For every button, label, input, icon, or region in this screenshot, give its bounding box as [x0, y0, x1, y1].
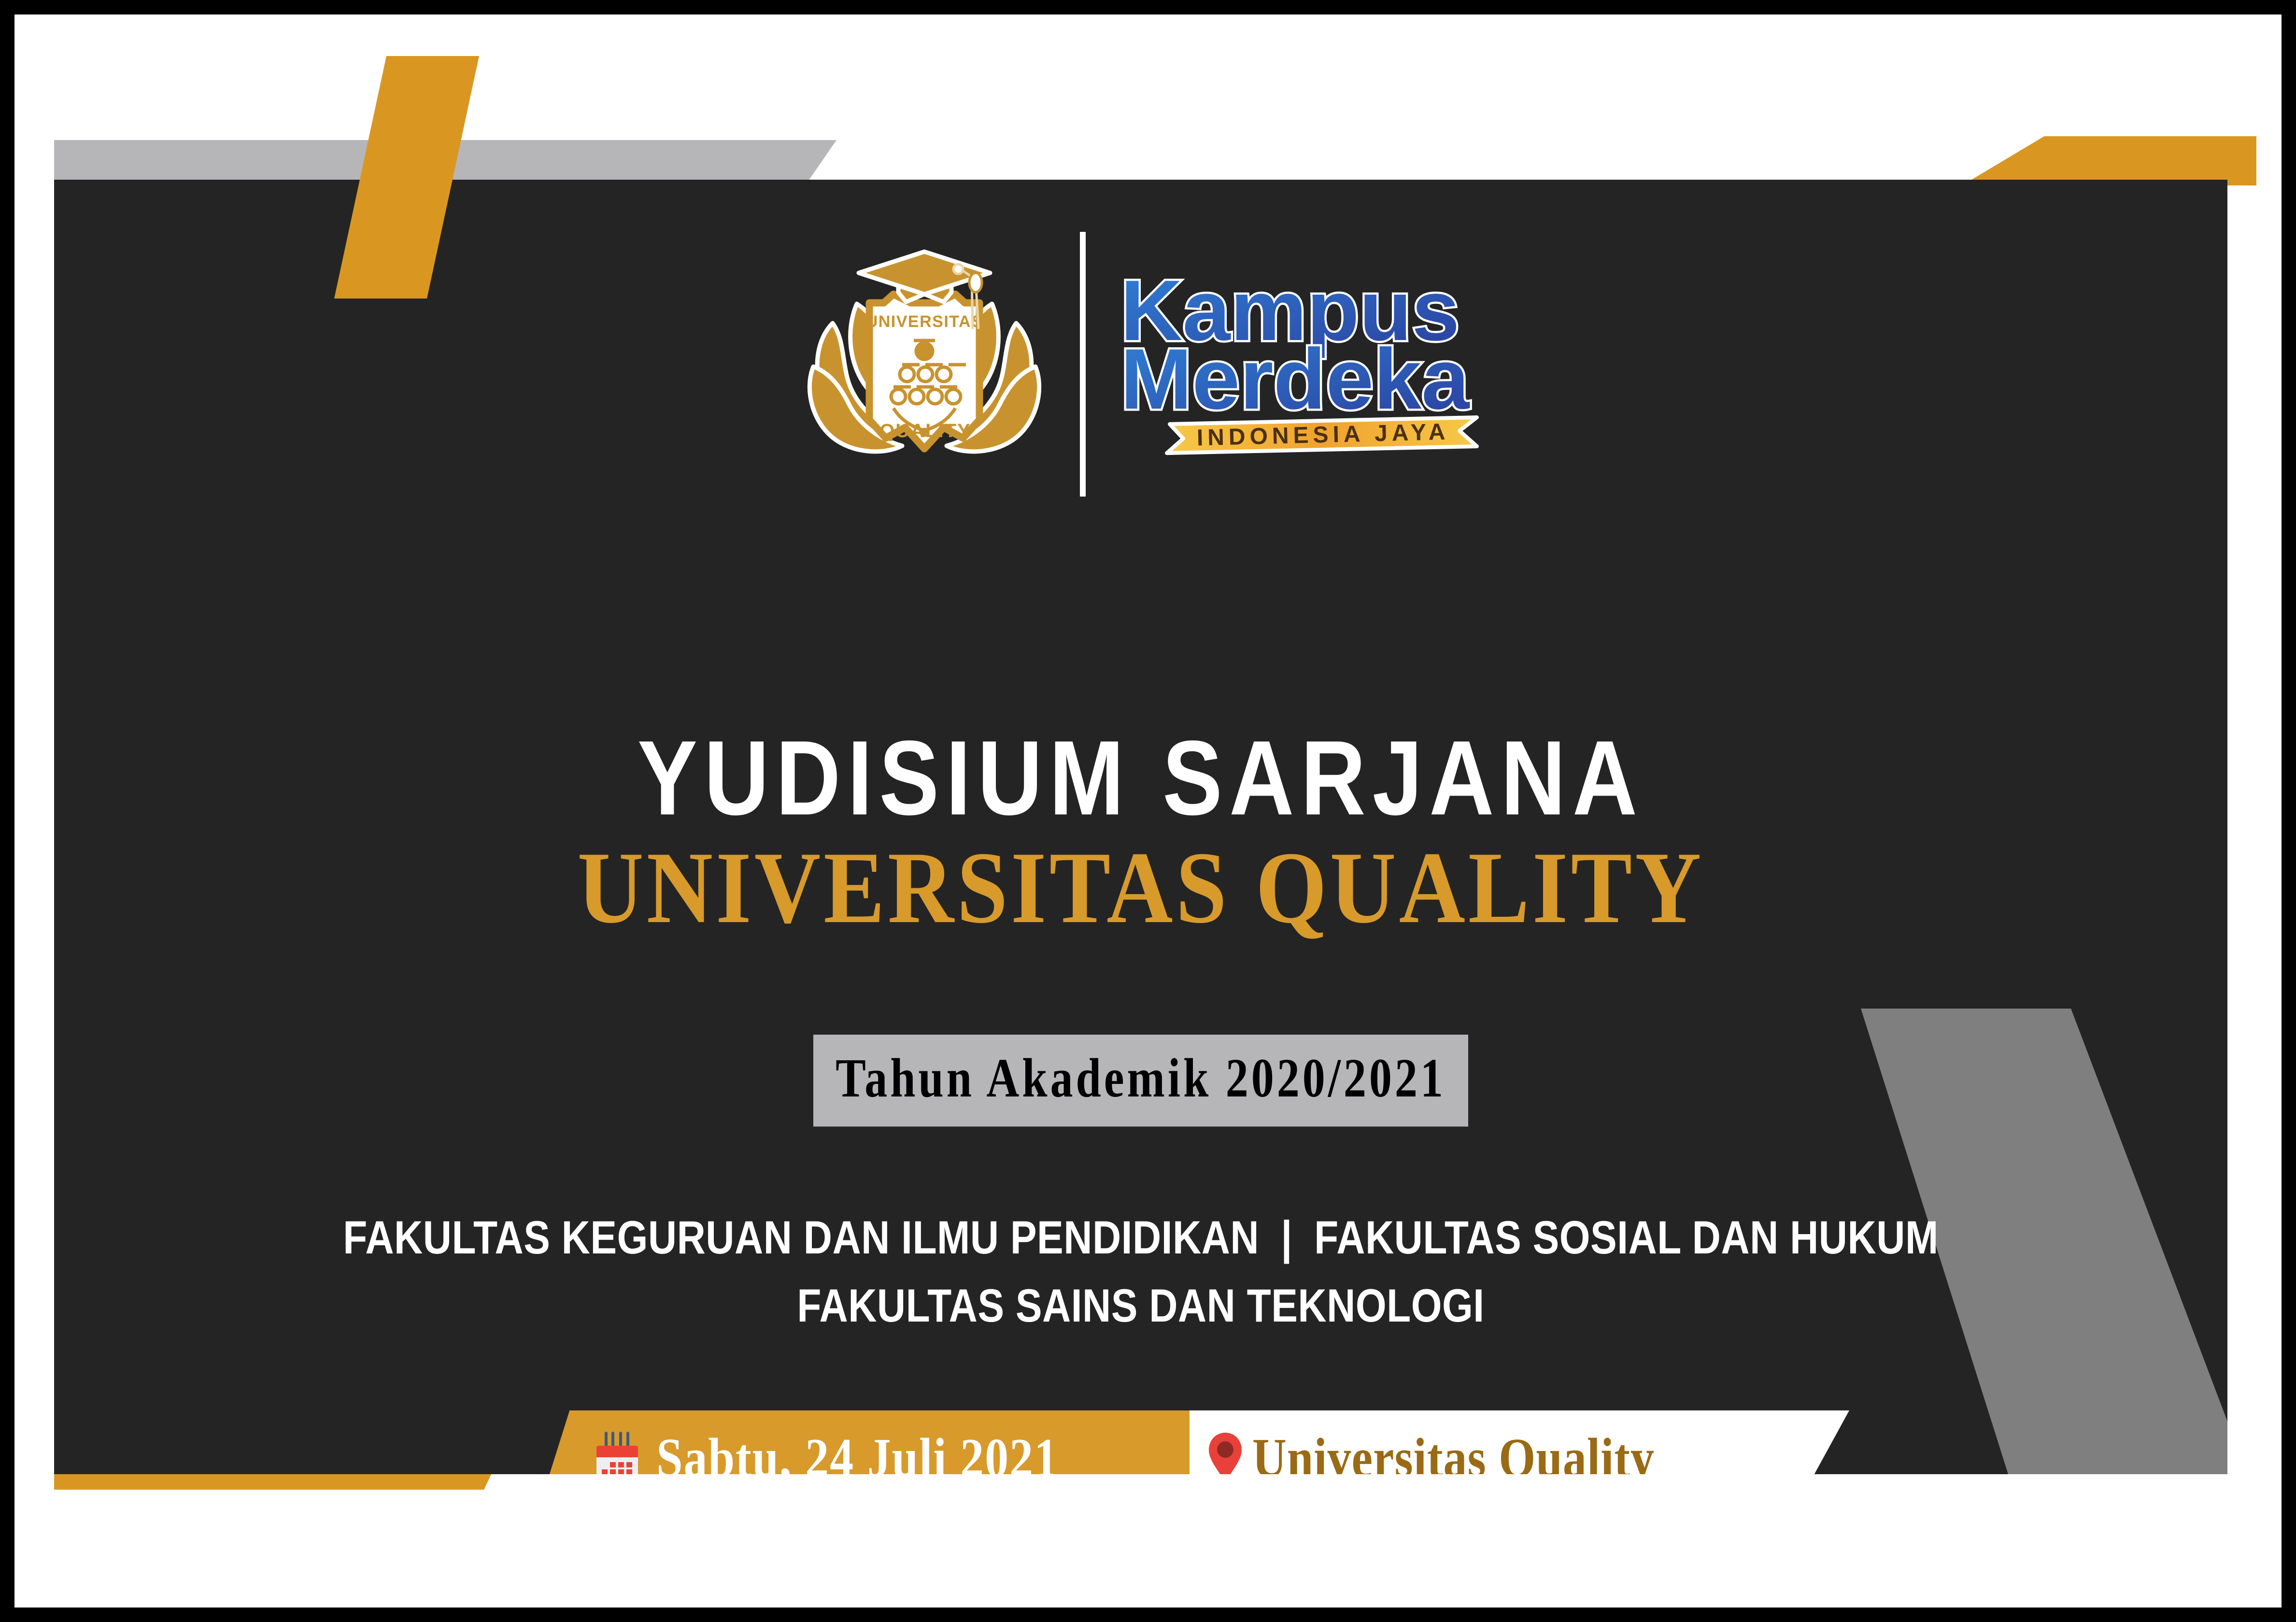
event-info-ribbon: Sabtu, 24 Juli 2021 Universitas Quality: [539, 1410, 1849, 1474]
map-pin-icon: [1207, 1432, 1244, 1474]
page-subtitle: UNIVERSITAS QUALITY: [54, 837, 2227, 939]
poster-canvas: UNIVERSITAS: [25, 25, 2271, 1597]
academic-year-badge: Tahun Akademik 2020/2021: [813, 1035, 1468, 1126]
calendar-icon: [596, 1431, 638, 1474]
poster-outer-frame: UNIVERSITAS: [0, 0, 2296, 1622]
faculty-list: FAKULTAS KEGURUAN DAN ILMU PENDIDIKAN | …: [54, 1204, 2227, 1340]
kampus-merdeka-logo: Kampus Merdeka INDONESIA JAYA: [1116, 258, 1483, 470]
km-line2: Merdeka: [1120, 331, 1470, 427]
faculty-sains-teknologi: FAKULTAS SAINS DAN TEKNOLOGI: [54, 1266, 2227, 1346]
logo-divider: [1080, 232, 1086, 497]
ribbon-date-section: Sabtu, 24 Juli 2021: [539, 1410, 1190, 1474]
page-title: YUDISIUM SARJANA: [54, 726, 2227, 831]
ribbon-place-section: Universitas Quality: [1190, 1410, 1849, 1474]
university-crest-logo: UNIVERSITAS: [799, 246, 1050, 483]
poster-inner-white-frame: UNIVERSITAS: [14, 14, 2282, 1608]
crest-top-text: UNIVERSITAS: [866, 313, 983, 331]
decor-gold-bar-top-right: [1962, 136, 2256, 185]
crest-bottom-text: QUALITY: [879, 420, 971, 441]
faculty-sosial-hukum: FAKULTAS SOSIAL DAN HUKUM: [1314, 1212, 1939, 1264]
faculty-fkip: FAKULTAS KEGURUAN DAN ILMU PENDIDIKAN: [343, 1212, 1259, 1264]
event-place: Universitas Quality: [1252, 1426, 1655, 1474]
academic-year-wrap: Tahun Akademik 2020/2021: [54, 1035, 2227, 1110]
event-date: Sabtu, 24 Juli 2021: [656, 1426, 1059, 1474]
poster-dark-panel: UNIVERSITAS: [54, 180, 2227, 1474]
